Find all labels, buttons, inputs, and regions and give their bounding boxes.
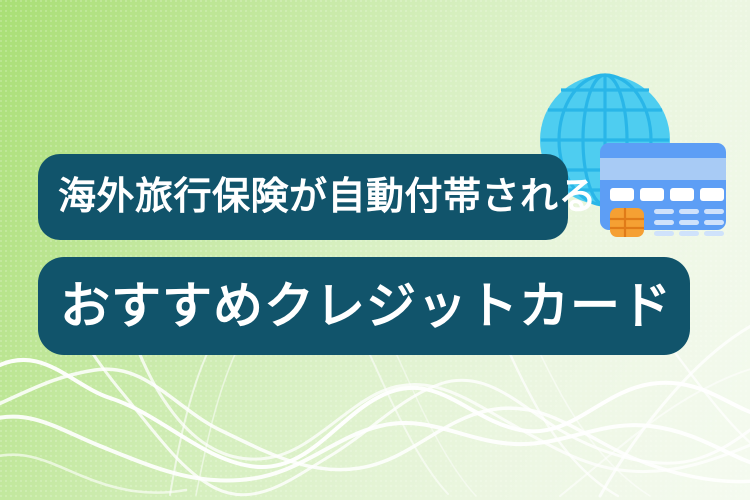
headline-banner-secondary-text: おすすめクレジットカード	[60, 281, 672, 331]
promo-banner-canvas: 海外旅行保険が自動付帯される おすすめクレジットカード	[0, 0, 750, 500]
headline-banner-primary-text: 海外旅行保険が自動付帯される	[58, 178, 597, 216]
credit-card-icon	[600, 143, 726, 237]
card-text-lines	[654, 209, 724, 236]
headline-banner-secondary: おすすめクレジットカード	[38, 257, 690, 355]
headline-banner-primary: 海外旅行保険が自動付帯される	[38, 154, 568, 240]
card-chip	[610, 208, 644, 237]
